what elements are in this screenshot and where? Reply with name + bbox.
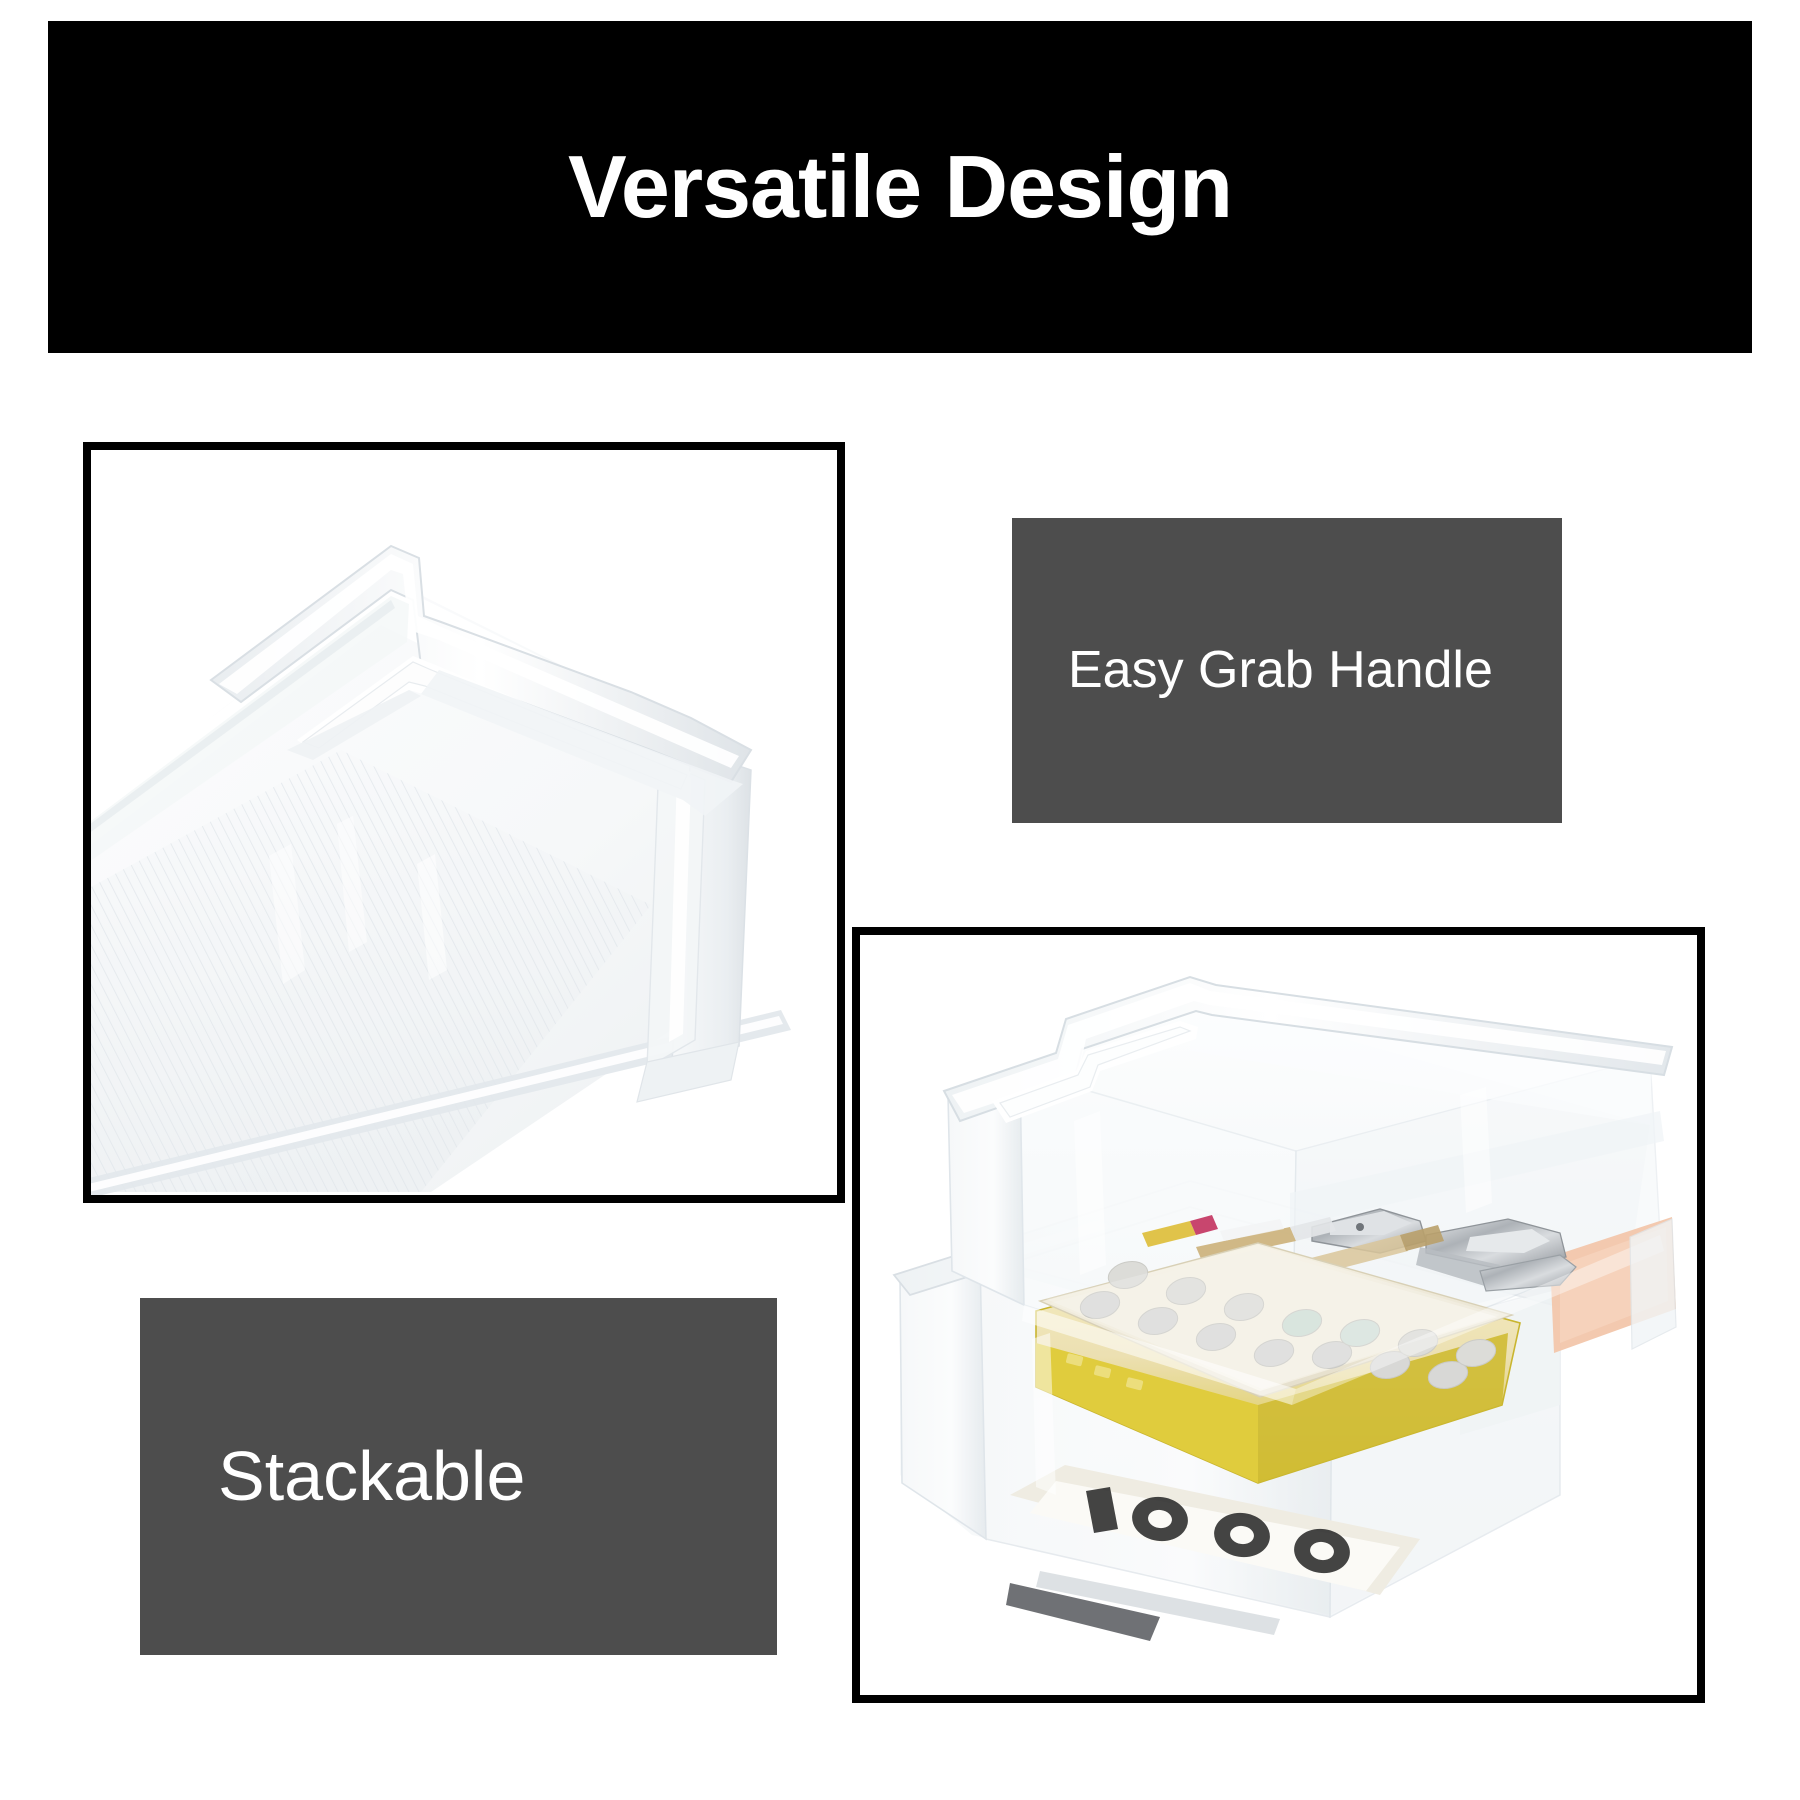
page-title: Versatile Design <box>568 143 1232 231</box>
photo-frame-stacked-bins <box>852 927 1705 1703</box>
callout-easy-grab-handle: Easy Grab Handle <box>1012 518 1562 823</box>
callout-stackable-label: Stackable <box>218 1432 525 1522</box>
infographic-page: Versatile Design <box>0 0 1800 1800</box>
stacked-bins-illustration <box>860 935 1697 1695</box>
clear-bin-illustration <box>91 450 837 1195</box>
callout-easy-grab-handle-label: Easy Grab Handle <box>1068 637 1493 704</box>
photo-stacked-bins <box>860 935 1697 1695</box>
callout-stackable: Stackable <box>140 1298 777 1655</box>
photo-handle-closeup <box>91 450 837 1195</box>
photo-frame-handle-closeup <box>83 442 845 1203</box>
header-banner: Versatile Design <box>48 21 1752 353</box>
